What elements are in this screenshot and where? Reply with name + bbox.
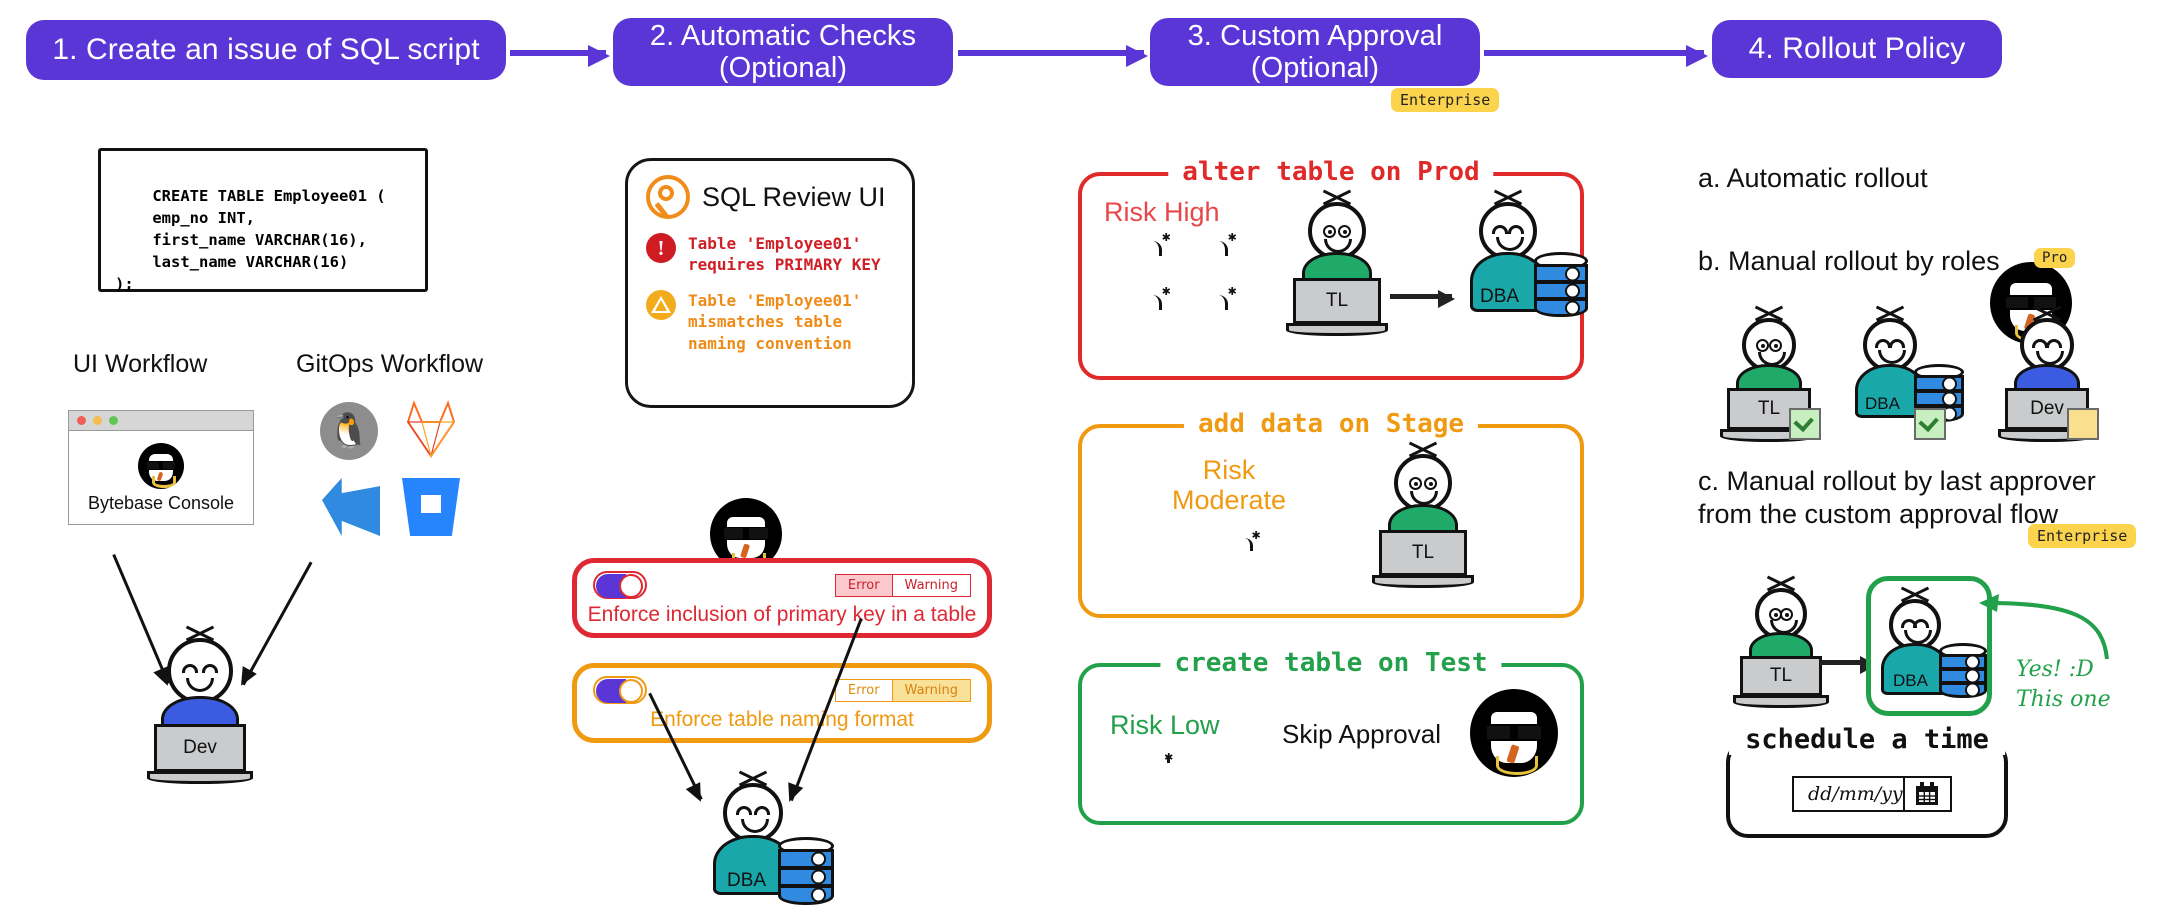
person-dba: DBA [700, 775, 840, 915]
role-label: DBA [1480, 286, 1519, 308]
browser-content: Bytebase Console [69, 431, 253, 525]
ui-workflow-title: UI Workflow [73, 350, 207, 379]
magnifier-icon [646, 175, 690, 219]
arrow-tl-to-dba [1390, 294, 1452, 299]
rollout-option-a-label: a. Automatic rollout [1698, 162, 1928, 195]
laptop-label: TL [1740, 656, 1822, 696]
laptop: TL [1740, 656, 1822, 696]
laptop: TL [1379, 530, 1467, 576]
browser-label: Bytebase Console [88, 493, 234, 514]
schedule-legend: schedule a time [1729, 724, 2005, 755]
review-card-title: SQL Review UI [702, 182, 886, 213]
database-icon [1534, 252, 1588, 314]
severity-option-warning[interactable]: Warning [893, 574, 971, 597]
approval-check-badge [1789, 408, 1821, 440]
person-dba: DBA [1460, 194, 1600, 344]
step-header-3-label: 3. Custom Approval (Optional) [1188, 20, 1443, 85]
browser-titlebar [69, 411, 253, 431]
diagram-canvas: 1. Create an issue of SQL script 2. Auto… [0, 0, 2168, 922]
rule-toggle[interactable] [593, 571, 647, 599]
step-header-1[interactable]: 1. Create an issue of SQL script [26, 20, 506, 80]
sql-review-card: SQL Review UI ! Table 'Employee01' requi… [625, 158, 915, 408]
annotation-yes-this-one: Yes! :D This one [2016, 655, 2111, 714]
laptop: Dev [154, 724, 246, 772]
schedule-a-time-panel: schedule a time dd/mm/yy [1726, 740, 2008, 838]
bomb-icon: ✱ [1178, 306, 1222, 350]
skip-approval-label: Skip Approval [1282, 719, 1441, 751]
severity-segmented-control[interactable]: Error Warning [835, 679, 971, 702]
risk-level-label: Risk Moderate [1172, 456, 1286, 515]
date-input-group[interactable]: dd/mm/yy [1792, 776, 1952, 812]
plan-badge-enterprise-option-c: Enterprise [2028, 524, 2136, 548]
gitops-workflow-label: GitOps Workflow [296, 350, 483, 378]
laptop-label: TL [1293, 278, 1381, 324]
step-header-2-label: 2. Automatic Checks (Optional) [650, 20, 916, 85]
approver-dev: Dev [1992, 310, 2102, 450]
last-approver-highlight: DBA [1866, 576, 1992, 716]
calendar-icon[interactable] [1903, 778, 1950, 810]
rule-controls: Error Warning [577, 563, 987, 599]
approval-check-badge [1914, 408, 1946, 440]
rule-row-primary-key[interactable]: Error Warning Enforce inclusion of prima… [572, 558, 992, 638]
bomb-icon: ✱ [1112, 306, 1156, 350]
window-close-dot[interactable] [77, 416, 86, 425]
step-header-3[interactable]: 3. Custom Approval (Optional) [1150, 18, 1480, 86]
bomb-icon: ✱ [1210, 548, 1248, 586]
role-label: DBA [727, 870, 766, 892]
plan-badge-label: Enterprise [2037, 527, 2127, 545]
approval-flow-test: create table on Test Risk Low ✱ Skip App… [1078, 663, 1584, 825]
sql-code-block: CREATE TABLE Employee01 ( emp_no INT, fi… [98, 148, 428, 292]
approval-flow-legend: create table on Test [1160, 648, 1501, 678]
step-header-1-label: 1. Create an issue of SQL script [52, 33, 479, 67]
severity-option-warning[interactable]: Warning [893, 679, 971, 702]
approval-flow-prod: alter table on Prod Risk High ✱ ✱ ✱ ✱ TL [1078, 172, 1584, 380]
window-minimize-dot[interactable] [93, 416, 102, 425]
database-icon [778, 837, 834, 901]
review-card-header: SQL Review UI [646, 175, 894, 219]
approval-flow-legend: add data on Stage [1184, 409, 1478, 439]
person-tl: TL [1282, 194, 1392, 344]
bomb-icon: ✱ [1112, 252, 1156, 296]
approval-flow-stage: add data on Stage Risk Moderate ✱ TL [1078, 424, 1584, 618]
rule-label: Enforce table naming format [577, 704, 987, 738]
azure-devops-icon [322, 478, 380, 536]
calendar-glyph [1914, 781, 1940, 807]
gitops-workflow-title: GitOps Workflow [296, 350, 483, 379]
approval-pending-badge [2067, 408, 2099, 440]
head [723, 783, 783, 843]
rollout-option-c-label: c. Manual rollout by last approver from … [1698, 465, 2096, 531]
review-message-text: Table 'Employee01' requires PRIMARY KEY [688, 233, 881, 276]
approval-flow-legend: alter table on Prod [1168, 157, 1493, 187]
arrow-step2-to-step3 [958, 50, 1144, 56]
step-header-2[interactable]: 2. Automatic Checks (Optional) [613, 18, 953, 86]
bomb-icon: ✱ [1178, 252, 1222, 296]
plan-badge-pro: Pro [2034, 248, 2075, 268]
risk-level-label: Risk Low [1110, 711, 1220, 741]
laptop-label: Dev [154, 724, 246, 772]
laptop: TL [1293, 278, 1381, 324]
severity-option-error[interactable]: Error [835, 574, 893, 597]
rule-toggle[interactable] [593, 676, 647, 704]
bitbucket-icon [402, 478, 460, 536]
role-label: DBA [1865, 394, 1900, 414]
warning-icon [646, 290, 676, 320]
date-input[interactable]: dd/mm/yy [1794, 783, 1903, 805]
bomb-icon: ✱ [1148, 761, 1167, 780]
person-dev: Dev [140, 630, 260, 775]
approver-tl-last: TL [1726, 580, 1836, 720]
risk-level-label: Risk High [1104, 198, 1220, 228]
gitlab-glyph [400, 400, 462, 458]
role-label: DBA [1893, 671, 1928, 691]
approver-tl: TL [1714, 310, 1824, 450]
plan-badge-label: Enterprise [1400, 91, 1490, 109]
person-tl: TL [1368, 446, 1478, 596]
plan-badge-enterprise-step3: Enterprise [1391, 88, 1499, 112]
bot-avatar [1470, 689, 1558, 777]
bytebase-console-window[interactable]: Bytebase Console [68, 410, 254, 525]
severity-option-error[interactable]: Error [835, 679, 893, 702]
severity-segmented-control[interactable]: Error Warning [835, 574, 971, 597]
rule-row-table-naming[interactable]: Error Warning Enforce table naming forma… [572, 663, 992, 743]
gitlab-icon [400, 400, 462, 458]
arrow-step3-to-step4 [1484, 50, 1704, 56]
plan-badge-label: Pro [2042, 250, 2067, 266]
step-header-4[interactable]: 4. Rollout Policy [1712, 20, 2002, 78]
ui-workflow-label: UI Workflow [73, 350, 207, 378]
github-icon: 🐧 [320, 402, 378, 460]
review-message-warning: Table 'Employee01' mismatches table nami… [646, 290, 894, 354]
rollout-option-b-label: b. Manual rollout by roles [1698, 245, 2000, 278]
review-message-error: ! Table 'Employee01' requires PRIMARY KE… [646, 233, 894, 276]
rule-label: Enforce inclusion of primary key in a ta… [577, 599, 987, 633]
window-maximize-dot[interactable] [109, 416, 118, 425]
approver-dba: DBA [1848, 310, 1978, 450]
laptop-label: TL [1379, 530, 1467, 576]
sql-code-text: CREATE TABLE Employee01 ( emp_no INT, fi… [115, 187, 386, 293]
annotation-arrow-green [1975, 585, 2115, 665]
rule-controls: Error Warning [577, 668, 987, 704]
head [167, 638, 233, 704]
review-message-text: Table 'Employee01' mismatches table nami… [688, 290, 861, 354]
step-header-4-label: 4. Rollout Policy [1749, 32, 1966, 66]
error-icon: ! [646, 233, 676, 263]
bot-avatar [138, 443, 184, 489]
arrow-step1-to-step2 [510, 50, 606, 56]
